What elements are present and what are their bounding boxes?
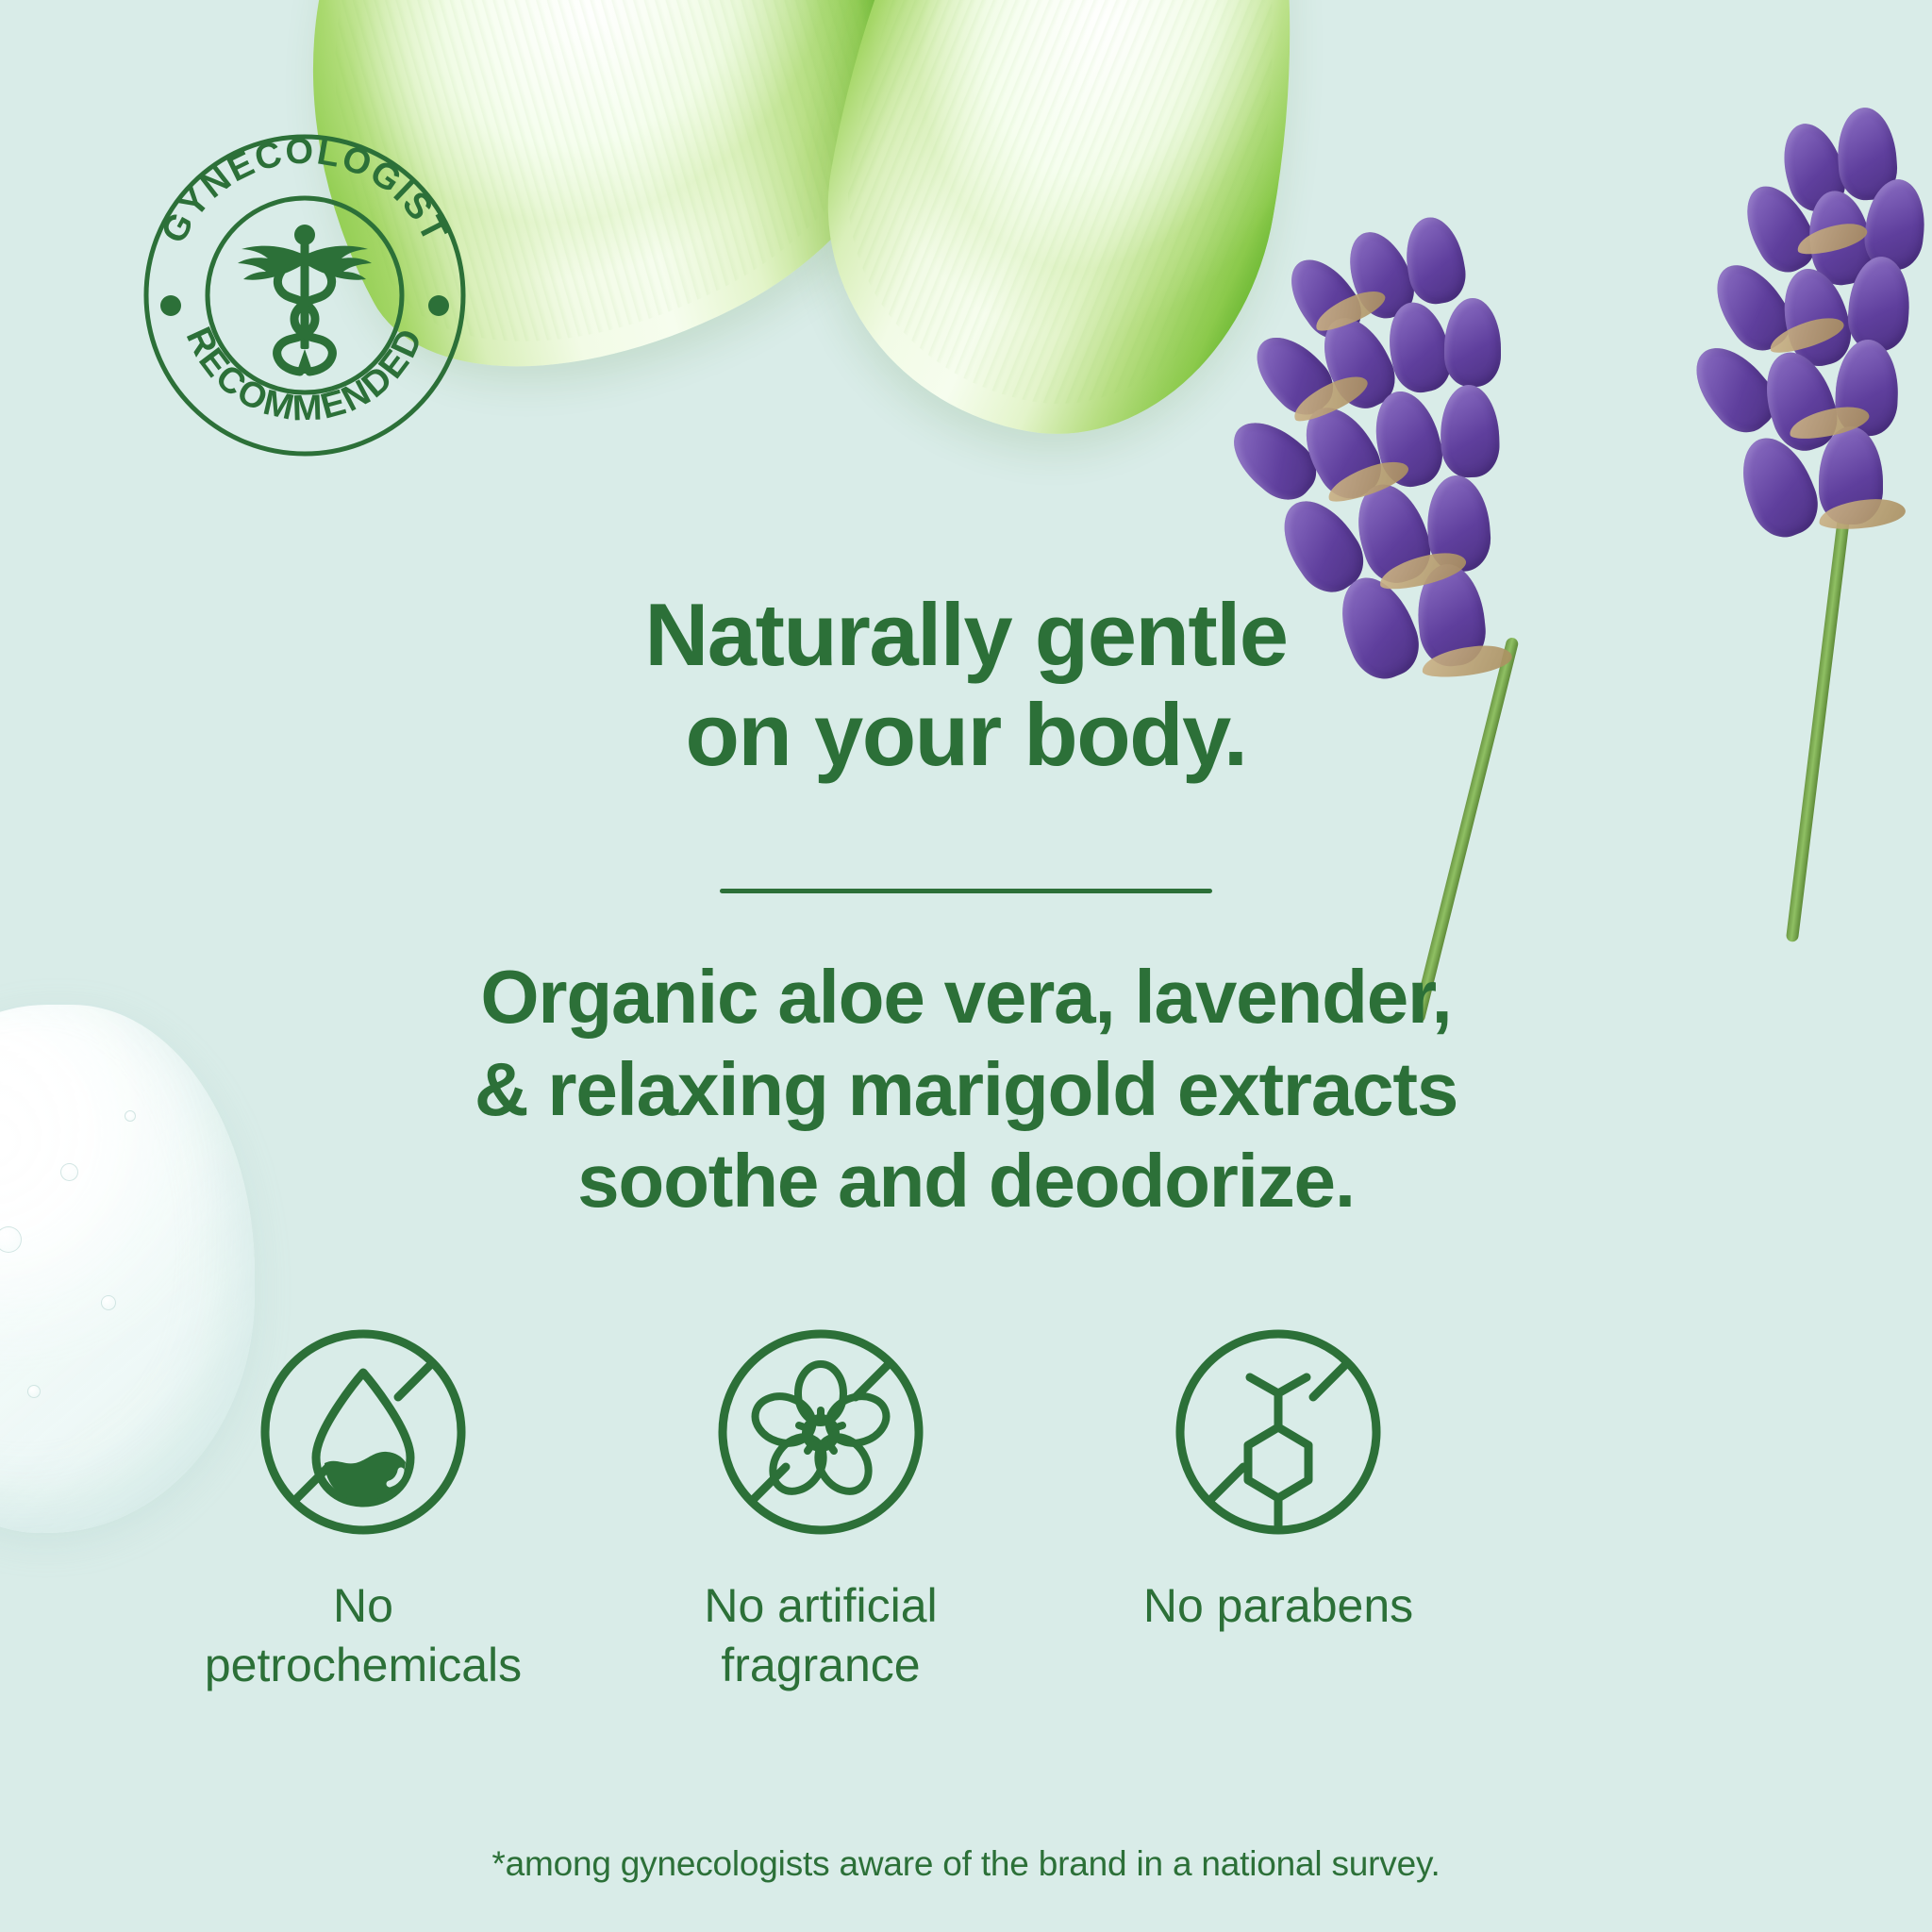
feature-no-artificial-fragrance: No artificial fragrance — [618, 1325, 1024, 1695]
subheading-line-1: Organic aloe vera, lavender, — [0, 951, 1932, 1043]
subheading-line-2: & relaxing marigold extracts — [0, 1043, 1932, 1136]
headline-line-2: on your body. — [0, 685, 1932, 785]
feature-label-line-1: No artificial — [704, 1576, 937, 1636]
feature-label-line-2: petrochemicals — [205, 1636, 522, 1695]
footnote: *among gynecologists aware of the brand … — [0, 1844, 1932, 1884]
lavender-sprig-outer-image — [1566, 85, 1932, 934]
feature-label-line-1: No — [205, 1576, 522, 1636]
feature-label: No artificial fragrance — [704, 1576, 937, 1695]
subheading: Organic aloe vera, lavender, & relaxing … — [0, 951, 1932, 1227]
feature-no-petrochemicals: No petrochemicals — [160, 1325, 566, 1695]
feature-label-line-2: fragrance — [704, 1636, 937, 1695]
gynecologist-recommended-badge: GYNECOLOGIST RECOMMENDED — [140, 130, 470, 460]
lavender-sprig-inner-image — [1184, 189, 1542, 962]
headline-line-1: Naturally gentle — [0, 585, 1932, 685]
no-flower-icon — [714, 1325, 927, 1539]
badge-separator-dot-right — [428, 295, 449, 316]
no-droplet-icon — [257, 1325, 470, 1539]
feature-list: No petrochemicals — [160, 1325, 1481, 1695]
feature-label: No parabens — [1143, 1576, 1413, 1636]
section-divider — [720, 889, 1212, 893]
product-benefits-banner: GYNECOLOGIST RECOMMENDED — [0, 0, 1932, 1932]
no-paraben-molecule-icon — [1172, 1325, 1385, 1539]
subheading-line-3: soothe and deodorize. — [0, 1135, 1932, 1227]
badge-separator-dot-left — [160, 295, 181, 316]
caduceus-icon — [238, 225, 372, 374]
feature-no-parabens: No parabens — [1075, 1325, 1481, 1695]
headline: Naturally gentle on your body. — [0, 585, 1932, 785]
feature-label-line-1: No parabens — [1143, 1576, 1413, 1636]
aloe-vera-slice-right-image — [792, 0, 1358, 467]
feature-label: No petrochemicals — [205, 1576, 522, 1695]
